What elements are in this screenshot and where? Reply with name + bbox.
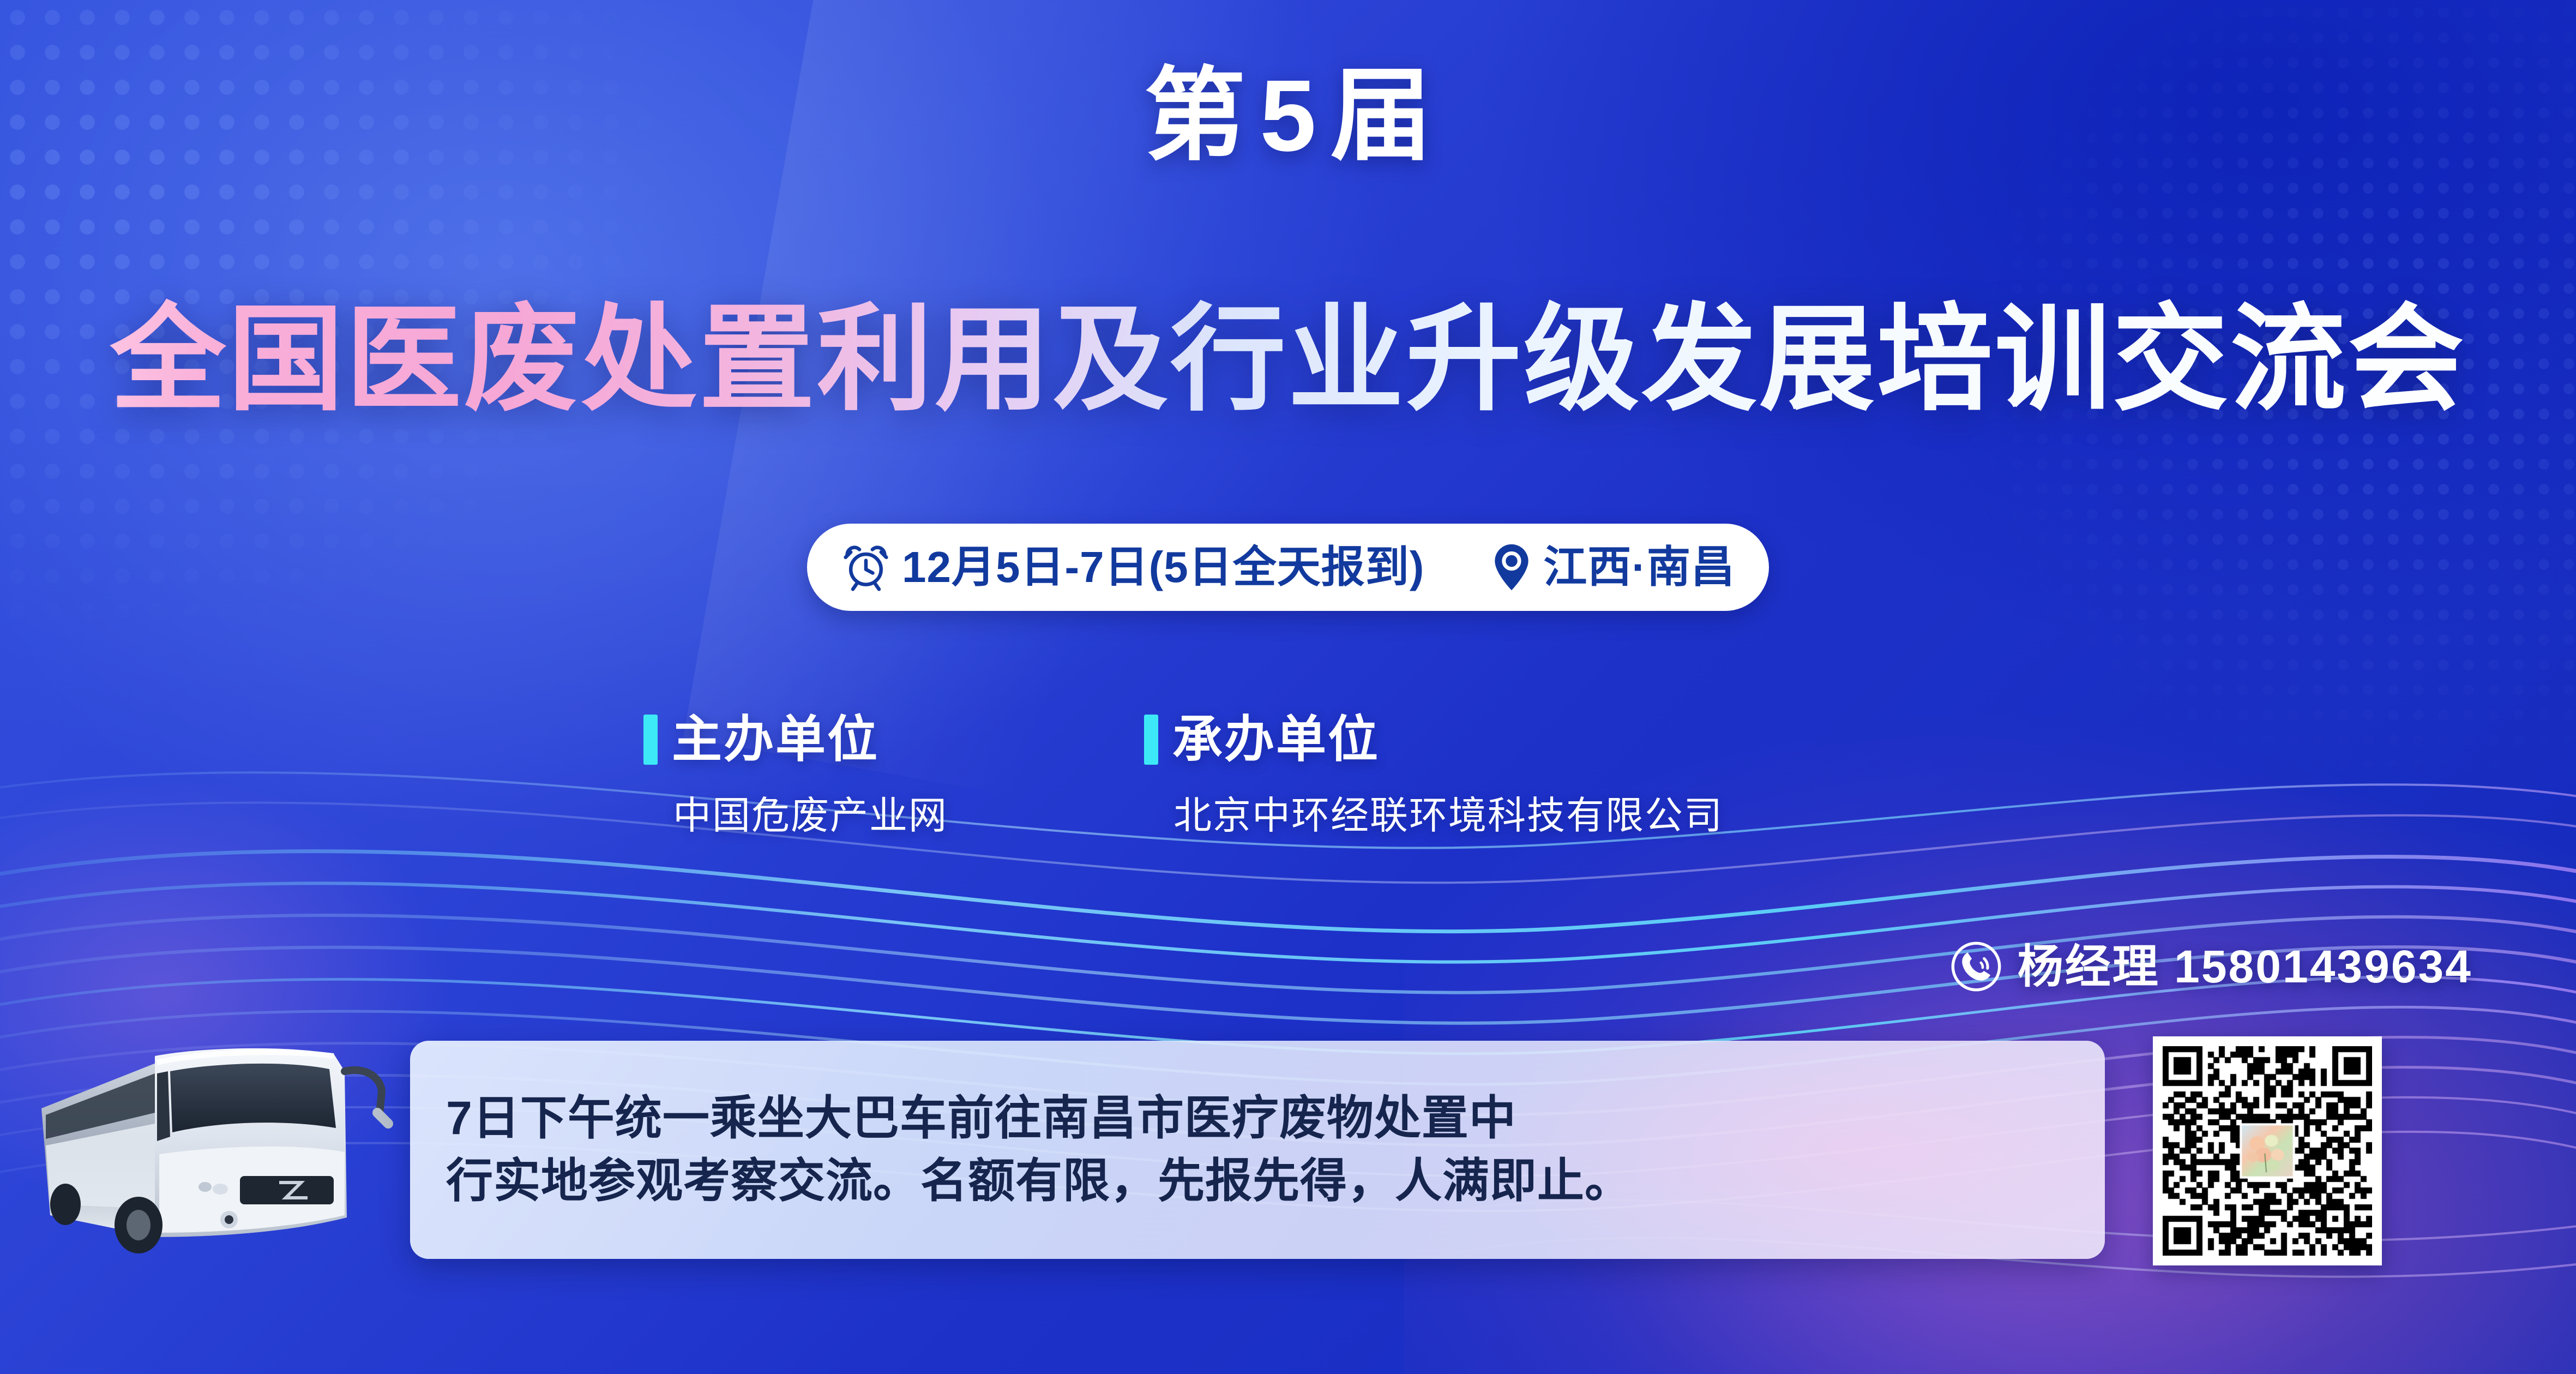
organizer-coordinator-name: 北京中环经联环境科技有限公司 [1173,796,1723,835]
location-segment: 江西·南昌 [1491,542,1735,592]
page-title: 全国医废处置利用及行业升级发展培训交流会 [0,295,2576,424]
page-kicker: 第5届 [0,65,2576,167]
date-segment: 12月5日-7日(5日全天报到) [841,542,1424,592]
cyan-accent-bar [643,715,658,765]
cyan-accent-bar-two [1144,715,1158,765]
organizers-section: 主办单位 中国危废产业网 承办单位 北京中环经联环境科技有限公司 [643,715,1723,835]
organizer-coordinator-role: 承办单位 [1172,715,1380,765]
date-location-badge: 12月5日-7日(5日全天报到) 江西·南昌 [807,524,1769,611]
location-pin-icon [1491,542,1532,592]
organizer-coordinator: 承办单位 北京中环经联环境科技有限公司 [1144,715,1723,835]
notice-text: 7日下午统一乘坐大巴车前往南昌市医疗废物处置中 行实地参观考察交流。名额有限，先… [446,1087,1632,1213]
alarm-clock-icon [841,542,891,592]
event-banner: 第5届 全国医废处置利用及行业升级发展培训交流会 12月5日-7日(5日全天报到… [0,0,2576,1374]
coach-bus-illustration [26,1023,408,1263]
contact-person-phone: 杨经理 15801439634 [2018,944,2472,989]
organizer-coordinator-header: 承办单位 [1144,715,1723,765]
notice-panel: 7日下午统一乘坐大巴车前往南昌市医疗废物处置中 行实地参观考察交流。名额有限，先… [410,1041,2105,1259]
organizer-host-role: 主办单位 [672,715,879,765]
event-date: 12月5日-7日(5日全天报到) [902,545,1424,589]
organizer-host: 主办单位 中国危废产业网 [643,715,948,835]
contact-line[interactable]: 杨经理 15801439634 [1949,939,2472,994]
qr-code-canvas [2163,1046,2372,1256]
notice-line-1: 7日下午统一乘坐大巴车前往南昌市医疗废物处置中 [446,1087,1632,1150]
phone-icon [1949,939,2003,994]
event-location: 江西·南昌 [1543,545,1735,589]
notice-line-2: 行实地参观考察交流。名额有限，先报先得，人满即止。 [446,1150,1632,1213]
organizer-host-name: 中国危废产业网 [673,796,948,835]
organizer-host-header: 主办单位 [643,715,948,765]
wechat-qr-code[interactable] [2153,1036,2382,1265]
